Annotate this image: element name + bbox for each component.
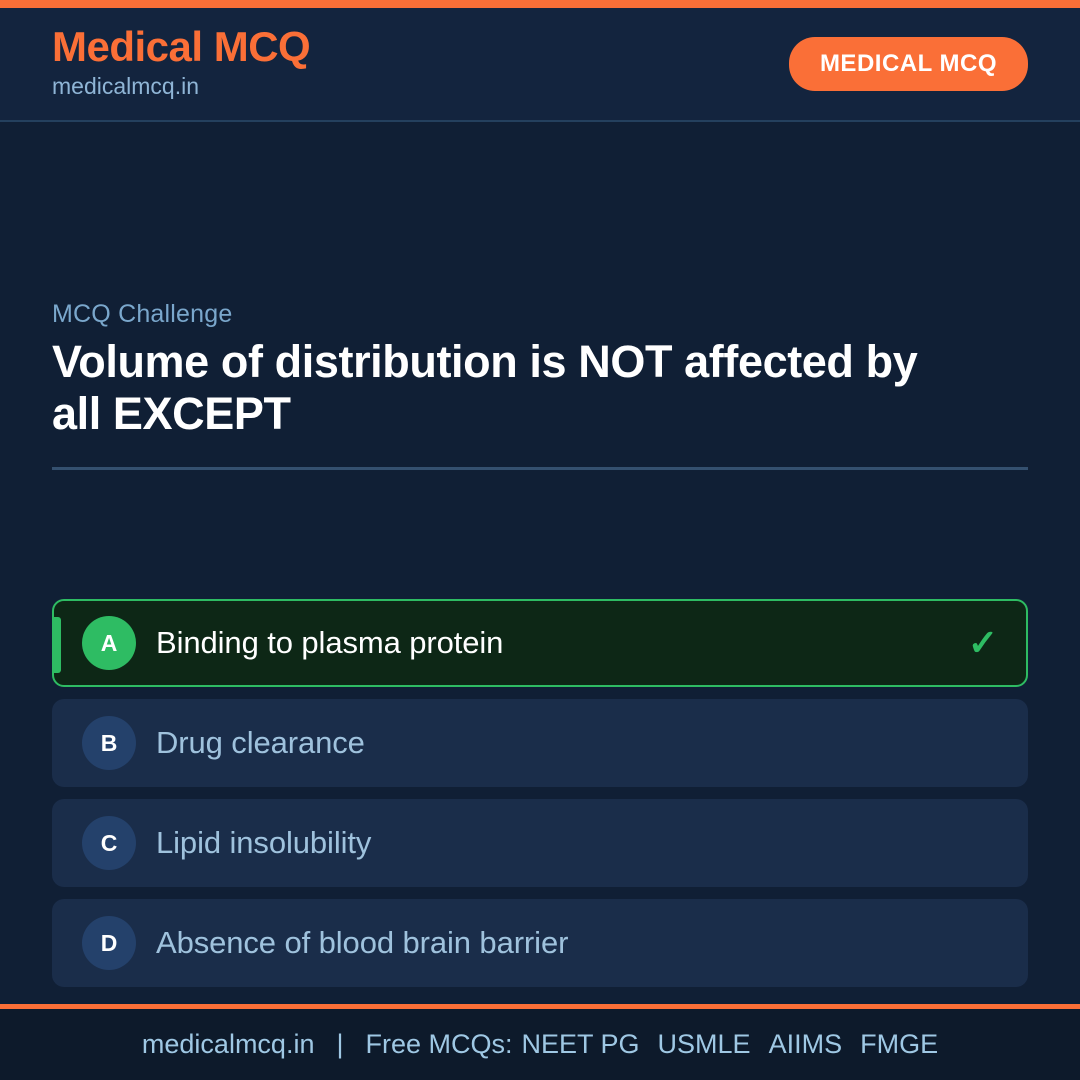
brand-subtitle: medicalmcq.in [52,72,310,101]
main-content: MCQ Challenge Volume of distribution is … [0,122,1080,1004]
footer-inner: medicalmcq.in | Free MCQs: NEET PG USMLE… [142,1029,938,1060]
top-accent-bar [0,0,1080,8]
check-icon: ✓ [968,625,998,661]
mcq-card: Medical MCQ medicalmcq.in MEDICAL MCQ MC… [0,0,1080,1080]
option-b[interactable]: B Drug clearance [52,699,1028,787]
footer-exam-neet-pg[interactable]: NEET PG [522,1029,640,1060]
option-c[interactable]: C Lipid insolubility [52,799,1028,887]
option-b-text: Drug clearance [156,726,365,760]
footer-exam-usmle[interactable]: USMLE [658,1029,751,1060]
footer-label: Free MCQs: [365,1029,512,1060]
option-d-letter-badge: D [82,916,136,970]
page-header: Medical MCQ medicalmcq.in MEDICAL MCQ [0,8,1080,122]
option-b-letter-badge: B [82,716,136,770]
options-list: A Binding to plasma protein ✓ B Drug cle… [52,599,1028,999]
footer-exam-aiims[interactable]: AIIMS [769,1029,843,1060]
kicker-label: MCQ Challenge [52,300,1028,329]
question-divider [52,467,1028,470]
footer-separator: | [314,1029,365,1060]
footer-site-link[interactable]: medicalmcq.in [142,1029,315,1060]
question-zone: MCQ Challenge Volume of distribution is … [52,300,1028,470]
header-badge: MEDICAL MCQ [789,37,1028,91]
correct-accent-bar [54,617,61,673]
brand-block: Medical MCQ medicalmcq.in [52,25,310,101]
footer-exam-list: NEET PG USMLE AIIMS FMGE [522,1029,939,1060]
footer-exam-fmge[interactable]: FMGE [860,1029,938,1060]
option-a-letter-badge: A [82,616,136,670]
option-a[interactable]: A Binding to plasma protein ✓ [52,599,1028,687]
option-c-letter-badge: C [82,816,136,870]
brand-title: Medical MCQ [52,25,310,69]
option-d-text: Absence of blood brain barrier [156,926,568,960]
option-a-text: Binding to plasma protein [156,626,503,660]
page-footer: medicalmcq.in | Free MCQs: NEET PG USMLE… [0,1009,1080,1080]
option-d[interactable]: D Absence of blood brain barrier [52,899,1028,987]
question-text: Volume of distribution is NOT affected b… [52,336,942,440]
option-c-text: Lipid insolubility [156,826,371,860]
